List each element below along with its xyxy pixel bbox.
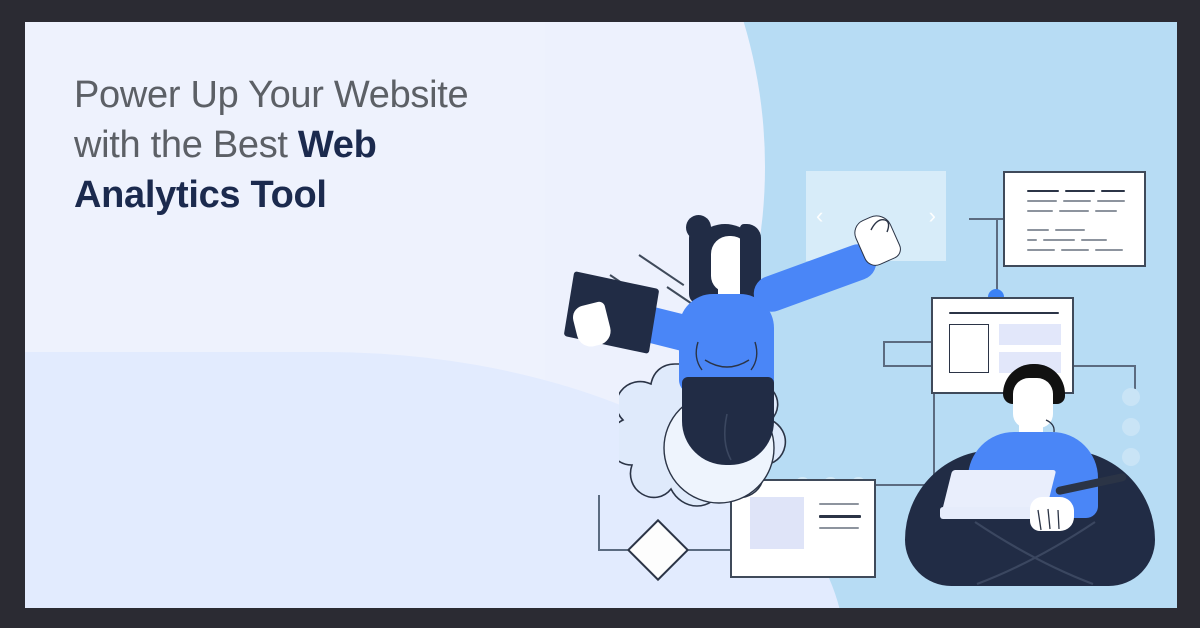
card-line [1061, 249, 1089, 251]
headline-bold-web: Web [298, 124, 377, 166]
card-line [1027, 190, 1059, 192]
woman-pointing-figure [555, 182, 915, 522]
card-line [1097, 200, 1125, 202]
headline-line-2: with the Best [74, 124, 298, 166]
card-line [1055, 229, 1085, 231]
connector-top-horizontal [969, 218, 1005, 220]
card-bar-upper [999, 324, 1061, 345]
banner-canvas: Power Up Your Website with the Best Web … [25, 22, 1177, 608]
card-line [1027, 210, 1053, 212]
card-line [1081, 239, 1107, 241]
banner-frame: Power Up Your Website with the Best Web … [0, 0, 1200, 628]
card-line [1065, 190, 1095, 192]
chevron-right-icon[interactable]: › [929, 205, 936, 227]
card-line [1027, 239, 1037, 241]
page-title: Power Up Your Website with the Best Web … [74, 70, 634, 220]
card-line [1027, 249, 1055, 251]
woman-hair-left [689, 224, 711, 304]
card-line [1059, 210, 1089, 212]
card-line [1101, 190, 1125, 192]
headline-line-1: Power Up Your Website [74, 74, 468, 116]
card-line [1063, 200, 1091, 202]
woman-skirt [682, 377, 774, 465]
card-line [1095, 249, 1123, 251]
document-card-top [1003, 171, 1146, 267]
card-line [949, 312, 1059, 314]
card-line [1095, 210, 1117, 212]
card-line [1027, 229, 1049, 231]
man-hand [1030, 497, 1074, 531]
card-line [1043, 239, 1075, 241]
card-line [1027, 200, 1057, 202]
man-with-laptop-figure [905, 362, 1175, 608]
headline-bold-analytics-tool: Analytics Tool [74, 174, 327, 216]
card-line [819, 527, 859, 529]
speed-line-2 [638, 254, 684, 286]
